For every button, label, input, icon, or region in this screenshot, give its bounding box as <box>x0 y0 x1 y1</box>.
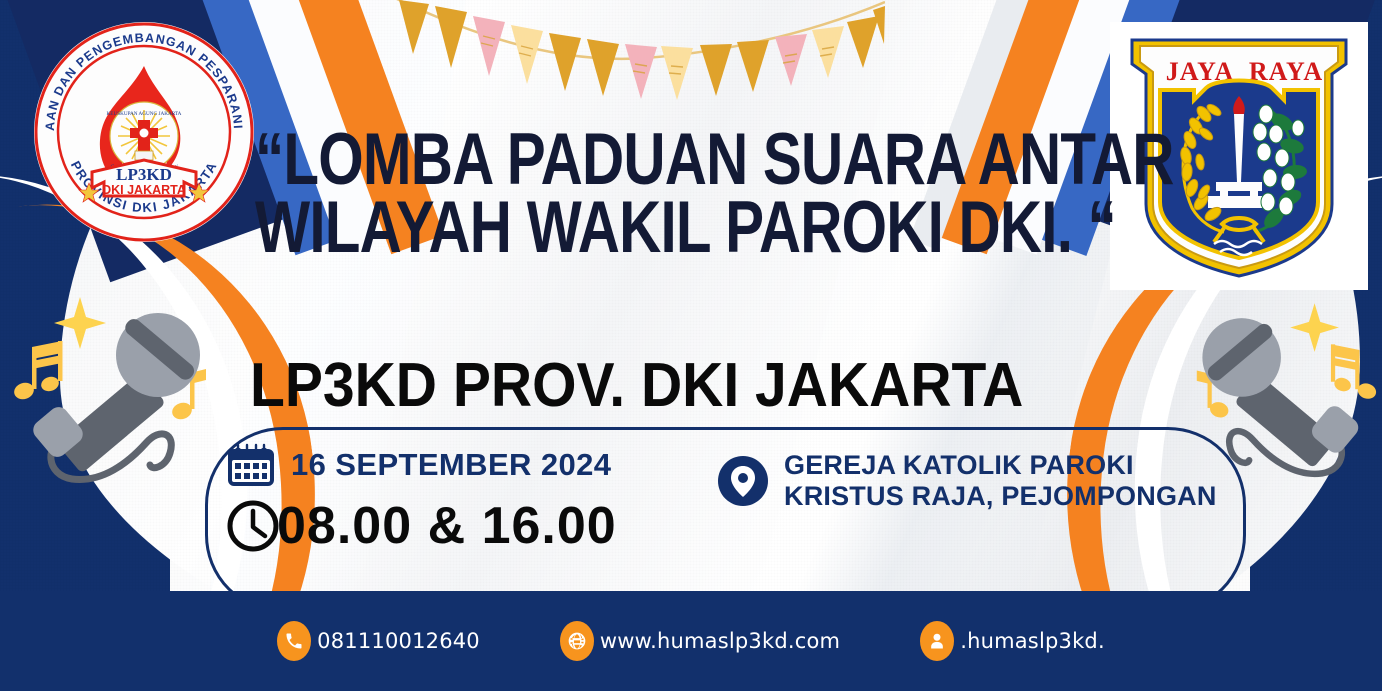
bunting-decoration <box>395 0 885 116</box>
microphone-left-decoration <box>10 285 240 500</box>
globe-icon <box>560 621 594 661</box>
logo-banner-main: LP3KD <box>116 165 172 184</box>
contact-website-text: www.humaslp3kd.com <box>600 629 840 653</box>
event-time: 08.00 & 16.00 <box>277 496 617 556</box>
event-info-right: GEREJA KATOLIK PAROKI KRISTUS RAJA, PEJO… <box>718 450 1217 512</box>
event-date: 16 SEPTEMBER 2024 <box>291 447 611 483</box>
poster-title: “LOMBA PADUAN SUARA ANTAR WILAYAH WAKIL … <box>255 126 1135 262</box>
poster-canvas: LEMBAGA PEMBINAAN DAN PENGEMBANGAN PESPA… <box>0 0 1382 691</box>
logo-banner-sub: DKI JAKARTA <box>102 183 186 197</box>
event-info-left: 16 SEPTEMBER 2024 08.00 & 16.00 <box>225 440 745 556</box>
poster-subtitle: LP3KD PROV. DKI JAKARTA <box>250 355 1078 417</box>
contact-social-text: .humaslp3kd. <box>960 629 1105 653</box>
event-time-row: 08.00 & 16.00 <box>225 496 745 556</box>
venue-line-2: KRISTUS RAJA, PEJOMPONGAN <box>784 481 1217 512</box>
title-line-2: WILAYAH WAKIL PAROKI DKI. “ <box>255 194 959 262</box>
logo-seal-top-text: KEUSKUPAN AGUNG JAKARTA <box>107 111 182 117</box>
event-venue: GEREJA KATOLIK PAROKI KRISTUS RAJA, PEJO… <box>784 450 1217 512</box>
music-note-double-icon <box>12 341 62 402</box>
clock-icon <box>225 498 281 554</box>
title-line-1: “LOMBA PADUAN SUARA ANTAR <box>255 126 959 194</box>
event-date-row: 16 SEPTEMBER 2024 <box>225 440 745 490</box>
footer-contacts: 081110012640 www.humaslp3kd.com .humaslp… <box>0 591 1382 691</box>
venue-line-1: GEREJA KATOLIK PAROKI <box>784 450 1217 481</box>
phone-icon <box>277 621 311 661</box>
location-pin-icon <box>718 456 768 506</box>
bunting-flags <box>399 0 885 100</box>
contact-social[interactable]: .humaslp3kd. <box>920 621 1105 661</box>
contact-phone-text: 081110012640 <box>317 629 480 653</box>
person-icon <box>920 621 954 661</box>
contact-website[interactable]: www.humaslp3kd.com <box>560 621 840 661</box>
lp3kd-logo: LEMBAGA PEMBINAAN DAN PENGEMBANGAN PESPA… <box>32 20 256 244</box>
calendar-icon <box>225 440 277 490</box>
music-note-double-icon <box>1331 344 1378 401</box>
contact-phone[interactable]: 081110012640 <box>277 621 480 661</box>
